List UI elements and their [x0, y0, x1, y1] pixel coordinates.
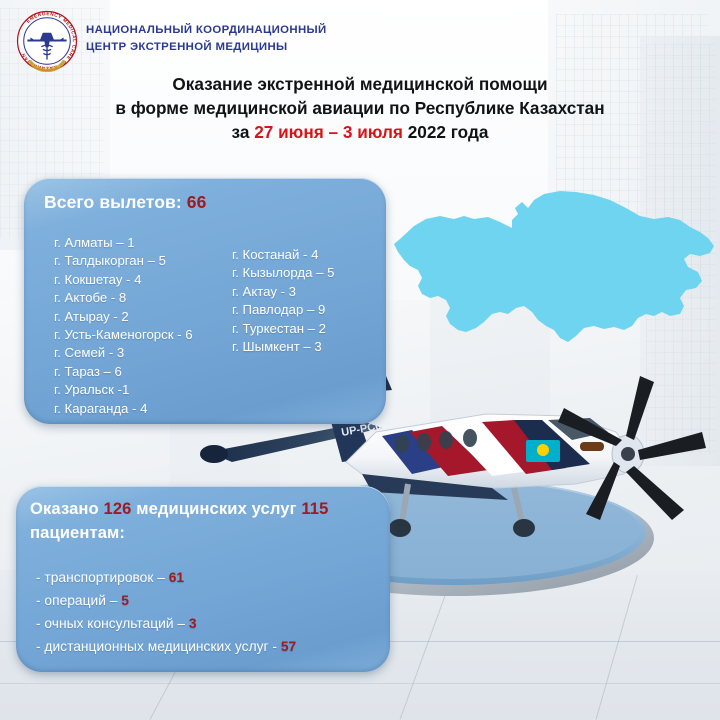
list-item: - транспортировок – 61 — [36, 566, 386, 589]
services-label-1: Оказано — [30, 499, 103, 518]
list-item: г. Костанай - 4 — [232, 246, 334, 264]
patients-count: 115 — [301, 499, 328, 518]
title-period-suffix: 2022 года — [403, 122, 488, 142]
services-rendered-card: Оказано 126 медицинских услуг 115 пациен… — [16, 486, 390, 672]
aircraft-wheel-right-icon — [513, 519, 535, 537]
city-list-left-column: г. Алматы – 1 г. Талдыкорган – 5 г. Кокш… — [54, 234, 193, 418]
list-item: г. Усть-Каменогорск - 6 — [54, 326, 193, 344]
list-item: г. Караганда - 4 — [54, 400, 193, 418]
page-header: EMERGENCY MEDICAL CARE OF KAZAKHSTAN НАЦ… — [0, 0, 720, 68]
list-item: г. Тараз – 6 — [54, 363, 193, 381]
services-heading: Оказано 126 медицинских услуг 115 пациен… — [30, 497, 378, 545]
total-flights-value: 66 — [187, 192, 207, 212]
total-flights-label: Всего вылетов: — [44, 192, 187, 212]
list-item: г. Алматы – 1 — [54, 234, 193, 252]
floor-line-2 — [0, 683, 720, 684]
list-item: г. Актау - 3 — [232, 283, 334, 301]
list-item: г. Атырау - 2 — [54, 308, 193, 326]
list-item: г. Кокшетау - 4 — [54, 271, 193, 289]
org-name-line1: НАЦИОНАЛЬНЫЙ КООРДИНАЦИОННЫЙ — [86, 22, 327, 39]
services-breakdown-list: - транспортировок – 61 - операций – 5 - … — [36, 566, 386, 658]
list-item: г. Талдыкорган – 5 — [54, 252, 193, 270]
list-item-label: - операций – — [36, 593, 121, 608]
list-item: г. Уральск -1 — [54, 381, 193, 399]
kazakhstan-map-silhouette-icon — [388, 186, 718, 386]
title-line-2: в форме медицинской авиации по Республик… — [60, 96, 660, 120]
list-item: г. Семей - 3 — [54, 344, 193, 362]
list-item: - дистанционных медицинских услуг - 57 — [36, 635, 386, 658]
kazakhstan-flag-icon — [526, 440, 560, 462]
list-item-label: - очных консультаций – — [36, 616, 189, 631]
list-item: г. Актобе - 8 — [54, 289, 193, 307]
list-item-value: 5 — [121, 593, 129, 608]
org-name-line2: ЦЕНТР ЭКСТРЕННОЙ МЕДИЦИНЫ — [86, 39, 327, 56]
title-line-3: за 27 июня – 3 июля 2022 года — [60, 120, 660, 144]
title-period-dates: 27 июня – 3 июля — [254, 122, 403, 142]
list-item-value: 61 — [169, 570, 184, 585]
city-list-right-column: г. Костанай - 4 г. Кызылорда – 5 г. Акта… — [232, 246, 334, 356]
list-item: г. Кызылорда – 5 — [232, 264, 334, 282]
list-item-label: - дистанционных медицинских услуг - — [36, 639, 281, 654]
aircraft-door-icon — [580, 442, 604, 451]
services-label-2: медицинских услуг — [131, 499, 296, 518]
services-label-3: пациентам: — [30, 523, 125, 542]
list-item: г. Павлодар – 9 — [232, 301, 334, 319]
list-item: г. Туркестан – 2 — [232, 320, 334, 338]
total-flights-card: Всего вылетов: 66 г. Алматы – 1 г. Талды… — [24, 178, 386, 424]
list-item: г. Шымкент – 3 — [232, 338, 334, 356]
title-period-prefix: за — [232, 122, 255, 142]
list-item-value: 3 — [189, 616, 197, 631]
total-flights-heading: Всего вылетов: 66 — [44, 192, 206, 213]
list-item: - очных консультаций – 3 — [36, 612, 386, 635]
list-item: - операций – 5 — [36, 589, 386, 612]
services-count: 126 — [103, 499, 131, 518]
emergency-medical-aviation-emblem-icon: EMERGENCY MEDICAL CARE OF KAZAKHSTAN — [16, 10, 78, 72]
list-item-value: 57 — [281, 639, 296, 654]
title-line-1: Оказание экстренной медицинской помощи — [60, 72, 660, 96]
page-title: Оказание экстренной медицинской помощи в… — [60, 72, 660, 144]
list-item-label: - транспортировок – — [36, 570, 169, 585]
organization-name: НАЦИОНАЛЬНЫЙ КООРДИНАЦИОННЫЙ ЦЕНТР ЭКСТР… — [86, 22, 327, 56]
aircraft-wheel-left-icon — [389, 519, 411, 537]
